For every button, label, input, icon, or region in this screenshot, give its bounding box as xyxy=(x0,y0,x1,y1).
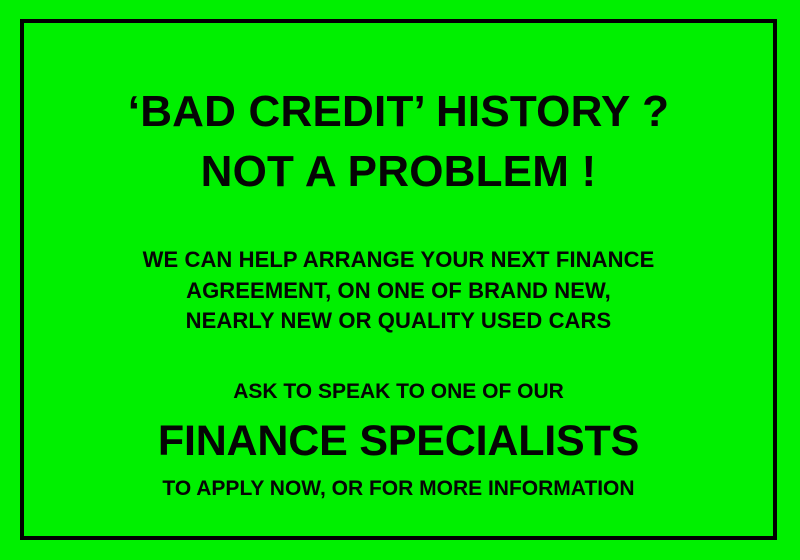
cta-footer-text: TO APPLY NOW, OR FOR MORE INFORMATION xyxy=(24,475,773,502)
advertisement-poster: ‘BAD CREDIT’ HISTORY ? NOT A PROBLEM ! W… xyxy=(0,0,800,560)
body-line-3: NEARLY NEW OR QUALITY USED CARS xyxy=(24,306,773,336)
headline-line-1: ‘BAD CREDIT’ HISTORY ? xyxy=(24,85,773,139)
headline-line-2: NOT A PROBLEM ! xyxy=(24,145,773,199)
call-to-action-block: ASK TO SPEAK TO ONE OF OUR FINANCE SPECI… xyxy=(24,378,773,502)
headline-block: ‘BAD CREDIT’ HISTORY ? NOT A PROBLEM ! xyxy=(24,85,773,198)
poster-content: ‘BAD CREDIT’ HISTORY ? NOT A PROBLEM ! W… xyxy=(24,23,773,536)
cta-lead-in-text: ASK TO SPEAK TO ONE OF OUR xyxy=(24,378,773,405)
cta-main-heading: FINANCE SPECIALISTS xyxy=(24,416,773,467)
body-line-2: AGREEMENT, ON ONE OF BRAND NEW, xyxy=(24,276,773,306)
body-paragraph: WE CAN HELP ARRANGE YOUR NEXT FINANCE AG… xyxy=(24,245,773,336)
body-line-1: WE CAN HELP ARRANGE YOUR NEXT FINANCE xyxy=(24,245,773,275)
